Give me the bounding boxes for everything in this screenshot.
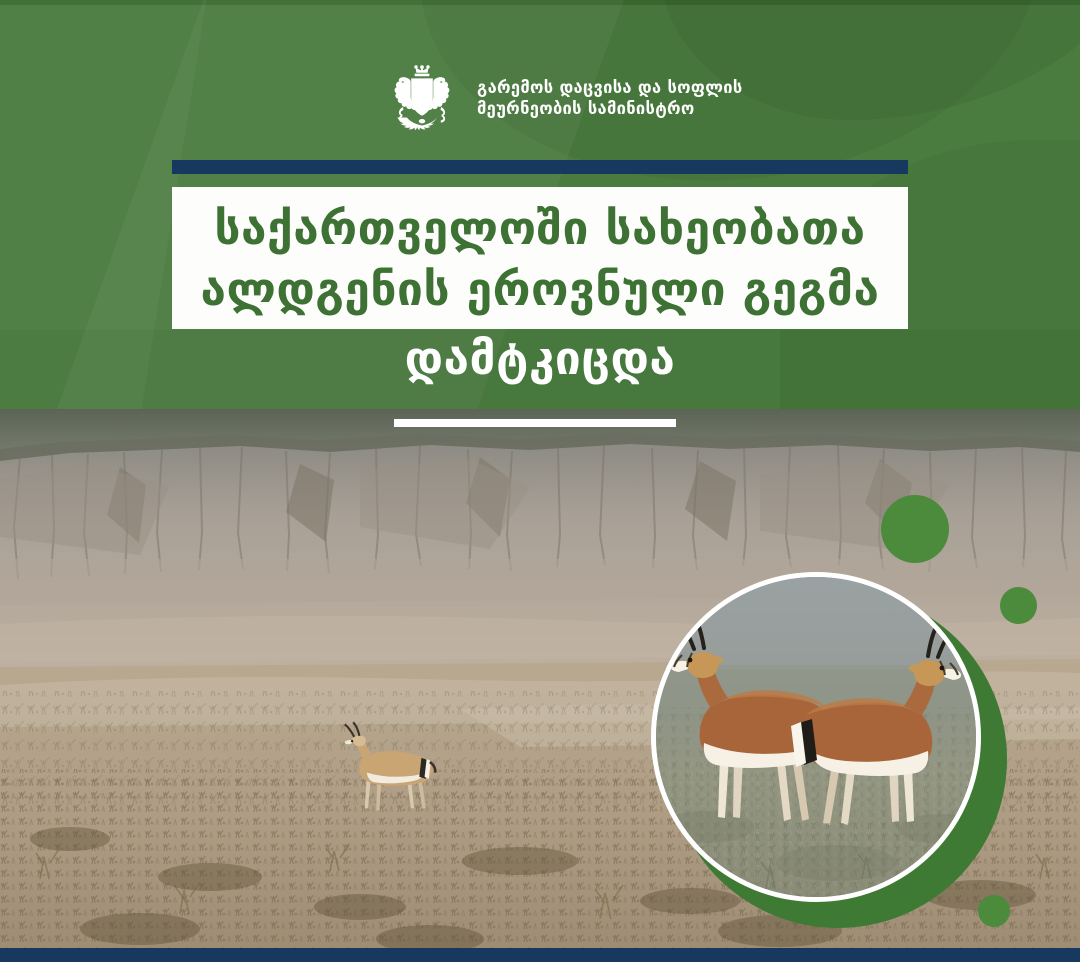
georgian-coat-of-arms-icon	[383, 62, 461, 134]
title-plaque: საქართველოში სახეობათა ალდგენის ეროვნული…	[172, 187, 908, 329]
ministry-lockup: გარემოს დაცვისა და სოფლის მეურნეობის სამ…	[383, 62, 743, 134]
ministry-name: გარემოს დაცვისა და სოფლის მეურნეობის სამ…	[477, 77, 743, 120]
inset-photograph	[651, 572, 981, 902]
title-accent-bar	[172, 160, 908, 174]
gazelle-inset	[651, 572, 1007, 928]
decor-dot-large	[881, 495, 949, 563]
title-line-1: საქართველოში სახეობათა	[214, 198, 865, 259]
title-underline-rule	[394, 419, 676, 427]
poster-root: გარემოს დაცვისა და სოფლის მეურნეობის სამ…	[0, 0, 1080, 962]
bottom-accent-bar	[0, 948, 1080, 962]
title-line-3: დამტკიცდა	[0, 335, 1080, 381]
title-line-2: ალდგენის ეროვნული გეგმა	[201, 259, 880, 320]
